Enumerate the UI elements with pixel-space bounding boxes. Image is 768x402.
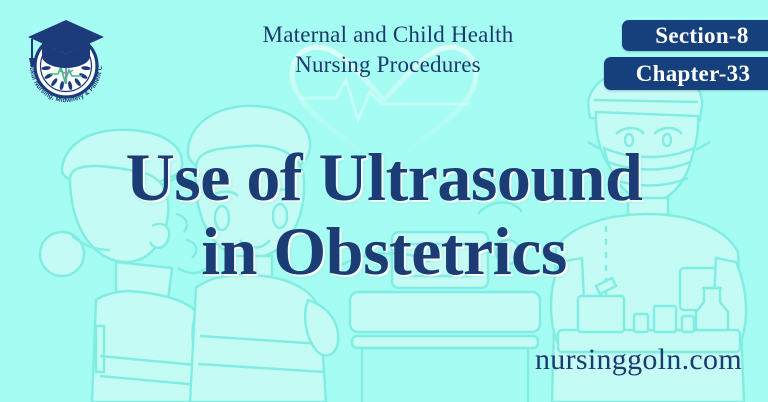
header-title-line1: Maternal and Child Health xyxy=(198,20,578,50)
page-title-line2: in Obstetrics xyxy=(0,214,768,288)
page-title-line1: Use of Ultrasound xyxy=(0,140,768,214)
page-title: Use of Ultrasound in Obstetrics xyxy=(0,140,768,288)
gurukul-nursing-logo: Gurukul Nursing, Midwifery & Patient Car… xyxy=(18,12,114,108)
section-badge: Section-8 xyxy=(622,20,768,51)
banner-root: Gurukul Nursing, Midwifery & Patient Car… xyxy=(0,0,768,402)
header-title-line2: Nursing Procedures xyxy=(198,50,578,80)
chapter-badge: Chapter-33 xyxy=(604,57,768,90)
header-title: Maternal and Child Health Nursing Proced… xyxy=(198,20,578,80)
website-url: nursinggoln.com xyxy=(535,343,742,377)
